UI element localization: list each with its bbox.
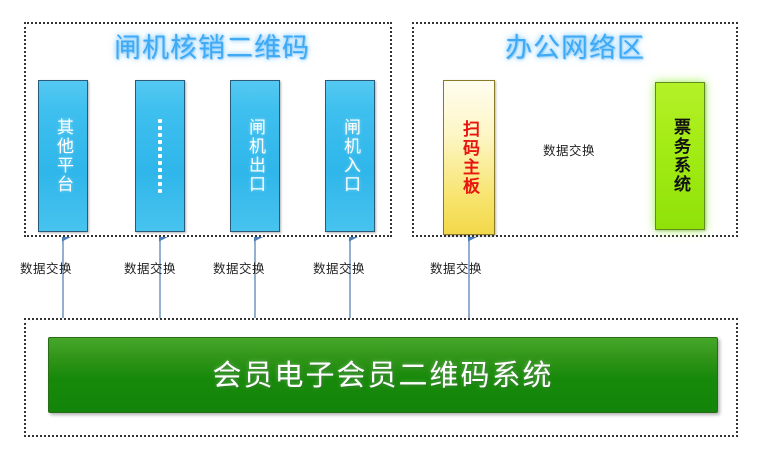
zone-gate-title: 闸机核销二维码 [30,32,394,66]
node-ticket-system[interactable]: 票务系统 [655,82,705,230]
node-gate-entry[interactable]: 闸机入口 [325,80,375,232]
node-other-platform-label: 其他平台 [53,118,73,194]
node-ticket-system-label: 票务系统 [670,118,690,194]
node-scan-mainboard-label: 扫码主板 [459,120,479,196]
arrow-label-mainboard-ticket: 数据交换 [543,143,595,158]
node-gate-exit[interactable]: 闸机出口 [230,80,280,232]
node-gate-ellipsis[interactable] [135,80,185,232]
arrow-label-other-platform-member: 数据交换 [20,261,72,276]
zone-office-title: 办公网络区 [414,32,736,66]
arrow-label-gate-exit-member: 数据交换 [213,261,265,276]
diagram-canvas: 闸机核销二维码 其他平台 闸机出口 闸机入口 办公网络区 扫码主板 票务系统 数… [0,0,764,459]
ellipsis-icon [158,119,162,193]
node-member-qrcode-system[interactable]: 会员电子会员二维码系统 [48,337,718,413]
arrow-label-mainboard-member: 数据交换 [430,261,482,276]
node-other-platform[interactable]: 其他平台 [38,80,88,232]
node-member-qrcode-system-label: 会员电子会员二维码系统 [212,358,553,392]
arrow-label-gate-entry-member: 数据交换 [313,261,365,276]
node-gate-exit-label: 闸机出口 [245,118,265,194]
arrow-label-ellipsis-member: 数据交换 [124,261,176,276]
node-scan-mainboard[interactable]: 扫码主板 [443,80,495,235]
node-gate-entry-label: 闸机入口 [340,118,360,194]
